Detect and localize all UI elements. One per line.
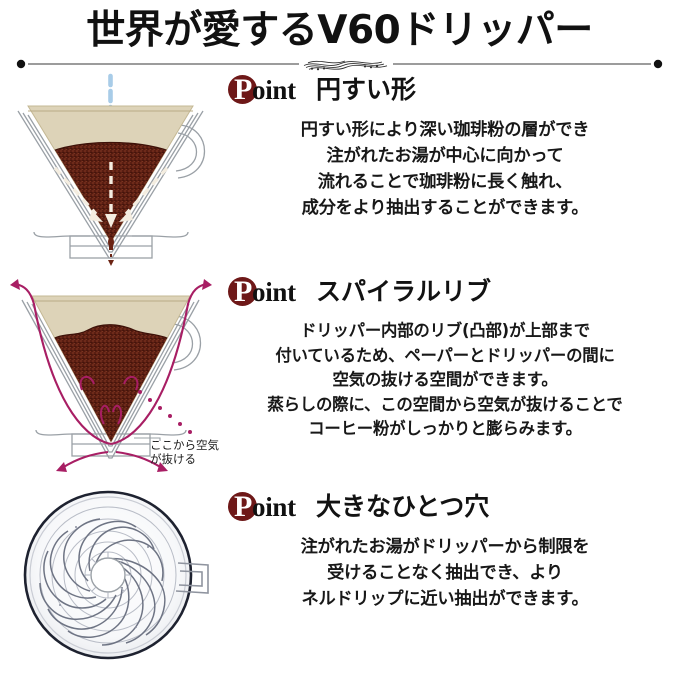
point-word-rest: oint: [252, 277, 296, 307]
point-title-single-large-hole: 大きなひとつ穴: [316, 493, 489, 521]
dripper-top-view-svg: [8, 487, 220, 669]
point-initial: P: [234, 73, 252, 106]
point-body-spiral-rib: ドリッパー内部のリブ(凸部)が上部まで 付いているため、ペーパーとドリッパーの間…: [222, 319, 668, 442]
point-badge-word: Point: [234, 275, 296, 309]
point-badge: Point: [228, 73, 304, 107]
title-block: 世界が愛するV60ドリッパー: [0, 0, 679, 60]
ornamental-divider: [16, 57, 663, 71]
text-column-conical-shape: Point 円すい形 円すい形により深い珈琲粉の層ができ 注がれたお湯が中心に向…: [222, 70, 674, 222]
point-heading-spiral-rib: Point スパイラルリブ: [222, 272, 668, 312]
point-title-conical-shape: 円すい形: [316, 76, 416, 104]
point-initial: P: [234, 490, 252, 523]
point-body-single-large-hole: 注がれたお湯がドリッパーから制限を 受けることなく抽出でき、より ネルドリップに…: [222, 534, 668, 612]
point-section-conical-shape: Point 円すい形 円すい形により深い珈琲粉の層ができ 注がれたお湯が中心に向…: [0, 70, 679, 270]
annotation-air-escape: ここから空気 が抜ける: [150, 438, 219, 467]
point-word-rest: oint: [252, 492, 296, 522]
point-initial: P: [234, 275, 252, 308]
point-section-spiral-rib: ここから空気 が抜ける Point スパイラルリブ ドリッパー内部のリブ(凸部)…: [0, 272, 679, 487]
conical-dripper-cross-section: [8, 70, 220, 268]
point-badge: Point: [228, 490, 304, 524]
point-word-rest: oint: [252, 75, 296, 105]
divider-graphic: [16, 57, 663, 71]
point-heading-single-large-hole: Point 大きなひとつ穴: [222, 487, 668, 527]
point-title-spiral-rib: スパイラルリブ: [316, 278, 491, 306]
point-body-conical-shape: 円すい形により深い珈琲粉の層ができ 注がれたお湯が中心に向かって 流れることで珈…: [222, 117, 668, 222]
point-heading-conical-shape: Point 円すい形: [222, 70, 668, 110]
center-drain-hole: [91, 558, 125, 592]
point-badge: Point: [228, 275, 304, 309]
point-section-single-large-hole: Point 大きなひとつ穴 注がれたお湯がドリッパーから制限を 受けることなく抽…: [0, 487, 679, 672]
text-column-spiral-rib: Point スパイラルリブ ドリッパー内部のリブ(凸部)が上部まで 付いているた…: [222, 272, 674, 442]
text-column-single-large-hole: Point 大きなひとつ穴 注がれたお湯がドリッパーから制限を 受けることなく抽…: [222, 487, 674, 612]
page-title: 世界が愛するV60ドリッパー: [86, 11, 592, 50]
point-badge-word: Point: [234, 490, 296, 524]
infographic-page: 世界が愛するV60ドリッパー: [0, 0, 679, 679]
point-badge-word: Point: [234, 73, 296, 107]
dripper-top-view-photo: [8, 487, 220, 669]
conical-dripper-svg: [8, 70, 220, 268]
coffee-grounds-bed: [42, 325, 180, 442]
